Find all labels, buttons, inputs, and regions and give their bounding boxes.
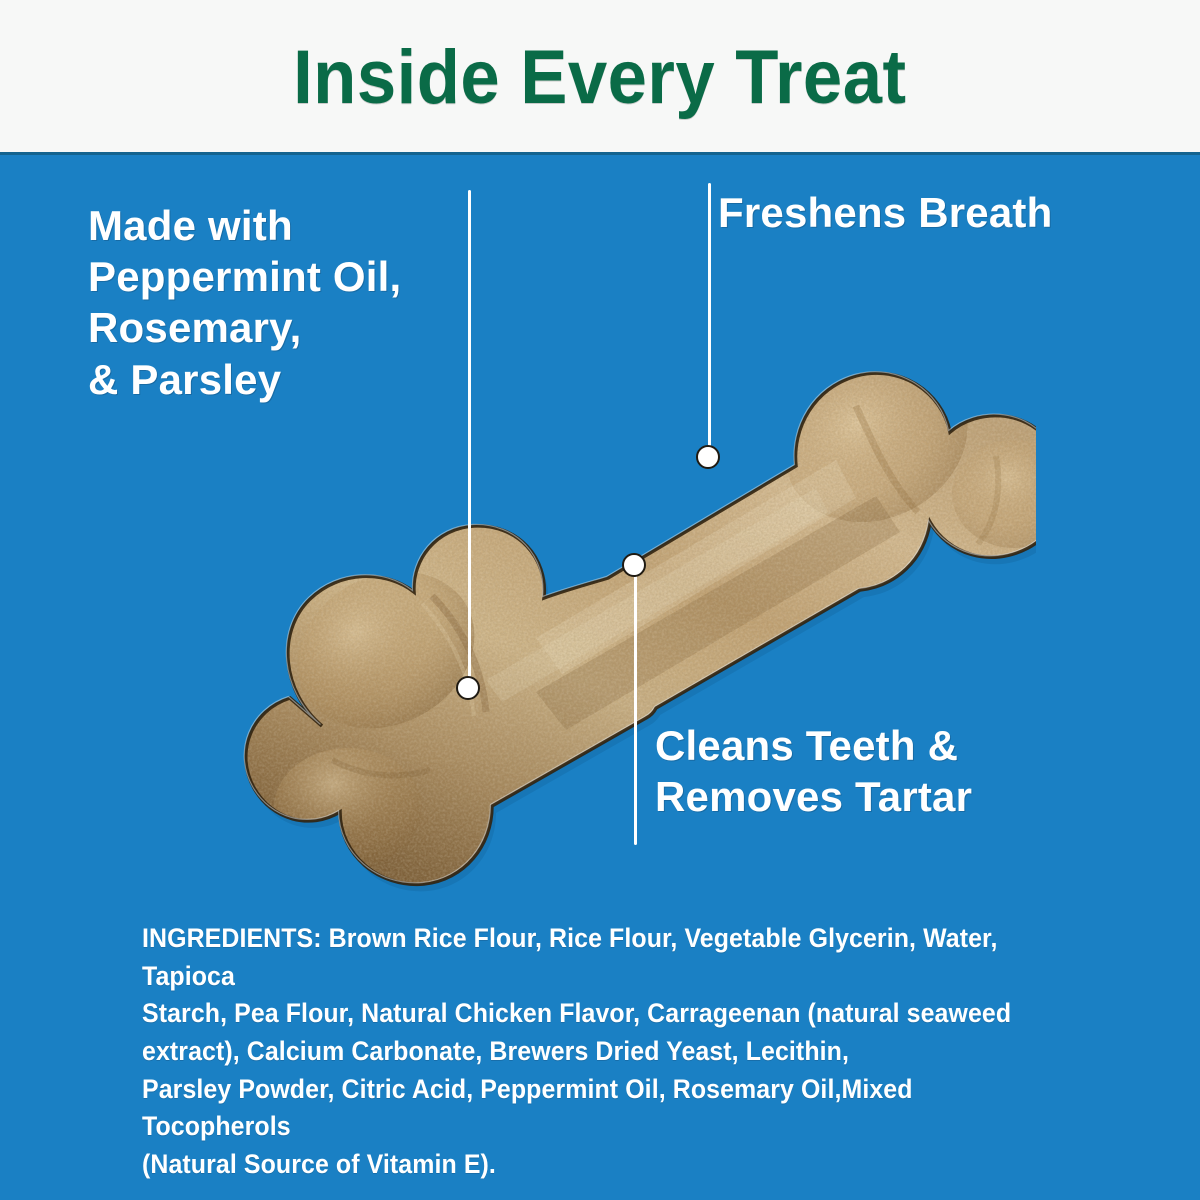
callout-label-cleans-teeth-removes-tartar: Cleans Teeth & Removes Tartar (655, 720, 972, 822)
feature-panel: Made with Peppermint Oil, Rosemary, & Pa… (0, 155, 1200, 1200)
callout-label-made-with-peppermint-oil: Made with Peppermint Oil, Rosemary, & Pa… (88, 200, 401, 405)
callout-dot-ingredients (456, 676, 480, 700)
page-title: Inside Every Treat (293, 34, 906, 121)
callout-label-freshens-breath: Freshens Breath (718, 187, 1052, 238)
callout-dot-cleans-teeth (622, 553, 646, 577)
ingredients-list-text: INGREDIENTS: Brown Rice Flour, Rice Flou… (142, 920, 1035, 1183)
header-bar: Inside Every Treat (0, 0, 1200, 154)
callout-dot-freshens-breath (696, 445, 720, 469)
leader-line-ingredients (468, 190, 471, 685)
leader-line-cleans-teeth (634, 575, 637, 845)
leader-line-freshens-breath (708, 183, 711, 453)
product-infographic: Inside Every Treat (0, 0, 1200, 1200)
